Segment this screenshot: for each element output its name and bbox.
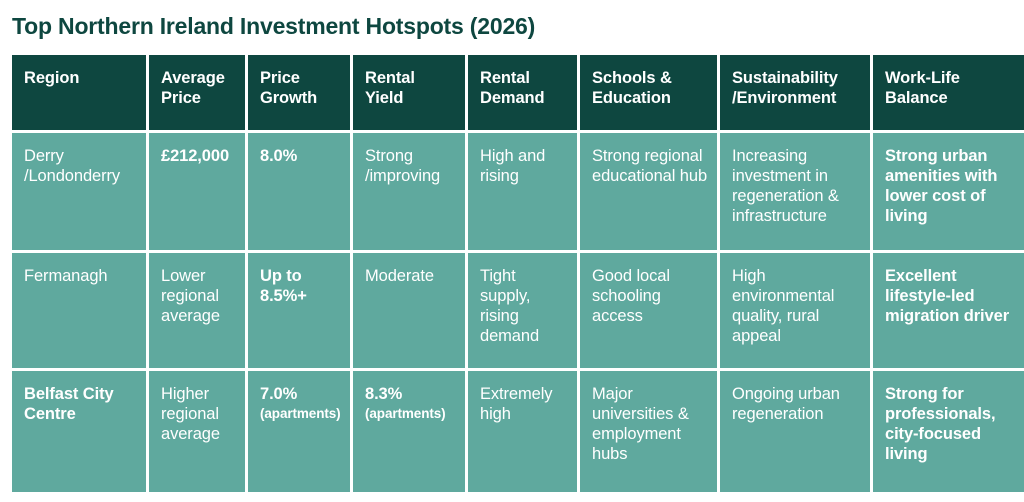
cell-region: Fermanagh [12, 253, 146, 368]
cell-average-price: £212,000 [149, 133, 245, 250]
cell-price-growth: 8.0% [248, 133, 350, 250]
cell-sustainability-environment: Increasing investment in regeneration & … [720, 133, 870, 250]
cell-schools-education: Good local schooling access [580, 253, 717, 368]
cell-price-growth: Up to 8.5%+ [248, 253, 350, 368]
column-header-sustainability-environment: Sustainability /Environment [720, 55, 870, 130]
investment-hotspots-table-wrapper: Region Average Price Price Growth Rental… [12, 55, 1012, 492]
column-header-price-growth: Price Growth [248, 55, 350, 130]
page-title: Top Northern Ireland Investment Hotspots… [12, 12, 535, 40]
table-row: Derry /Londonderry £212,000 8.0% Strong … [12, 133, 1024, 250]
cell-rental-demand: Extremely high [468, 371, 577, 492]
column-header-rental-yield: Rental Yield [353, 55, 465, 130]
price-growth-note: (apartments) [260, 404, 340, 423]
price-growth-value: 7.0% [260, 384, 340, 404]
column-header-region: Region [12, 55, 146, 130]
cell-sustainability-environment: Ongoing urban regeneration [720, 371, 870, 492]
column-header-average-price: Average Price [149, 55, 245, 130]
table-row: Belfast City Centre Higher regional aver… [12, 371, 1024, 492]
page-root: Top Northern Ireland Investment Hotspots… [0, 0, 1024, 502]
cell-rental-yield: Strong /improving [353, 133, 465, 250]
cell-schools-education: Strong regional educational hub [580, 133, 717, 250]
cell-average-price: Lower regional average [149, 253, 245, 368]
cell-rental-demand: Tight supply, rising demand [468, 253, 577, 368]
cell-work-life-balance: Strong for professionals, city-focused l… [873, 371, 1024, 492]
investment-hotspots-table: Region Average Price Price Growth Rental… [9, 52, 1024, 495]
rental-yield-note: (apartments) [365, 404, 455, 423]
column-header-schools-education: Schools & Education [580, 55, 717, 130]
table-row: Fermanagh Lower regional average Up to 8… [12, 253, 1024, 368]
cell-average-price: Higher regional average [149, 371, 245, 492]
cell-work-life-balance: Excellent lifestyle-led migration driver [873, 253, 1024, 368]
cell-rental-yield: 8.3% (apartments) [353, 371, 465, 492]
cell-price-growth: 7.0% (apartments) [248, 371, 350, 492]
cell-region: Derry /Londonderry [12, 133, 146, 250]
table-header-row: Region Average Price Price Growth Rental… [12, 55, 1024, 130]
column-header-work-life-balance: Work-Life Balance [873, 55, 1024, 130]
cell-rental-yield: Moderate [353, 253, 465, 368]
column-header-rental-demand: Rental Demand [468, 55, 577, 130]
cell-schools-education: Major universities & employment hubs [580, 371, 717, 492]
cell-work-life-balance: Strong urban amenities with lower cost o… [873, 133, 1024, 250]
cell-rental-demand: High and rising [468, 133, 577, 250]
table-body: Derry /Londonderry £212,000 8.0% Strong … [12, 133, 1024, 492]
cell-sustainability-environment: High environmental quality, rural appeal [720, 253, 870, 368]
table-header: Region Average Price Price Growth Rental… [12, 55, 1024, 130]
cell-region: Belfast City Centre [12, 371, 146, 492]
rental-yield-value: 8.3% [365, 384, 455, 404]
